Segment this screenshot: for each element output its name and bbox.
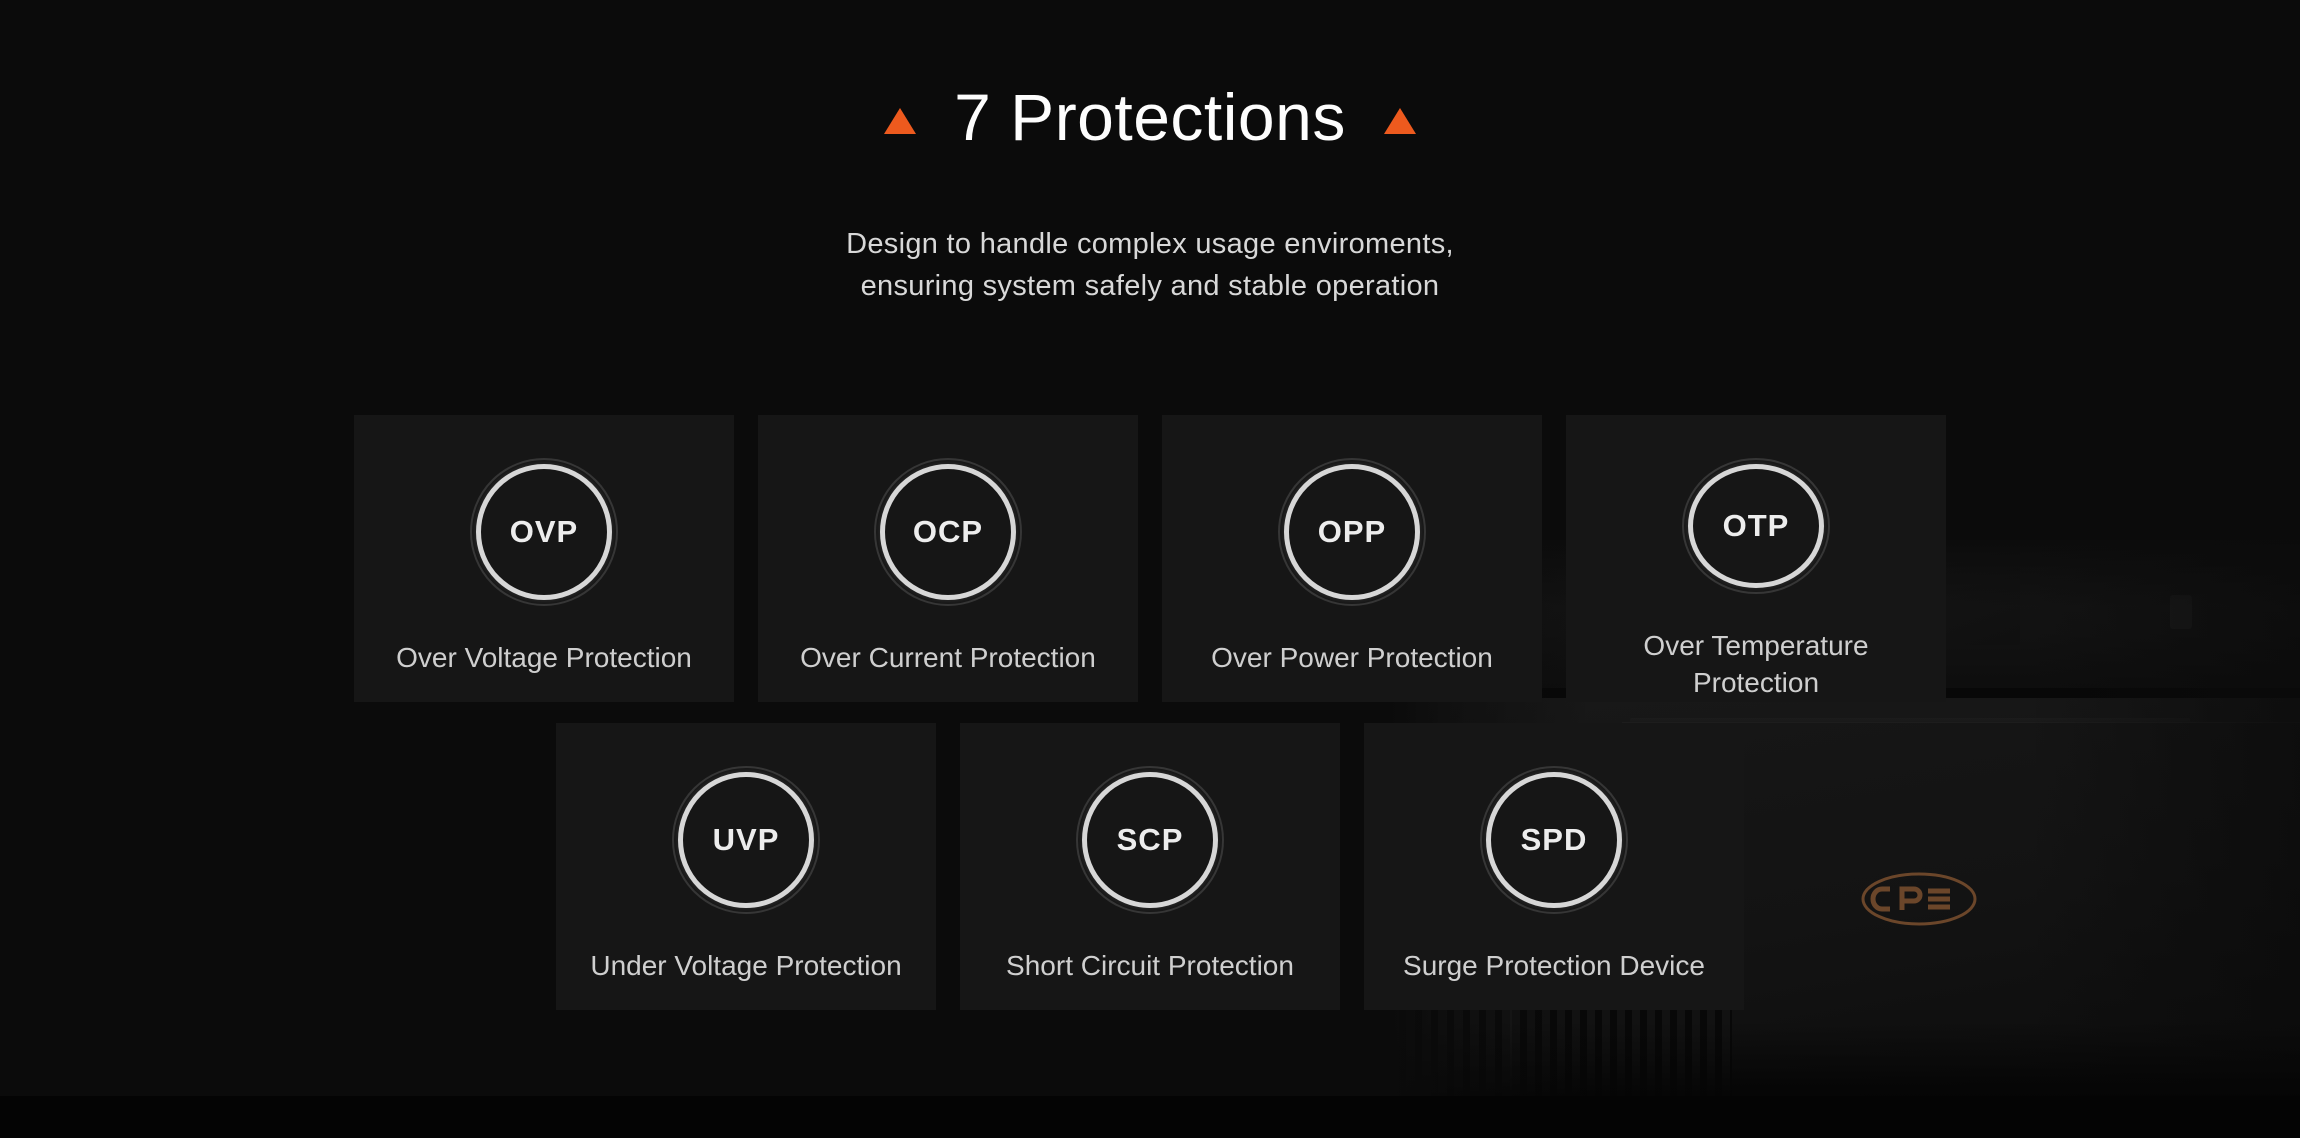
ring-abbr-uvp: UVP [713,822,780,858]
protections-row-2: UVP Under Voltage Protection SCP Short C… [0,723,2300,1010]
protection-card-ocp[interactable]: OCP Over Current Protection [758,415,1138,702]
ring-badge-otp: OTP [1682,458,1830,594]
ring-badge-spd: SPD [1480,766,1628,914]
protection-card-spd[interactable]: SPD Surge Protection Device [1364,723,1744,1010]
ring-badge-scp: SCP [1076,766,1224,914]
ring-abbr-otp: OTP [1723,508,1790,544]
protection-card-uvp[interactable]: UVP Under Voltage Protection [556,723,936,1010]
ring-abbr-ovp: OVP [510,514,578,550]
triangle-marker-right-icon [1384,108,1416,134]
ring-badge-ocp: OCP [874,458,1022,606]
protections-grid: OVP Over Voltage Protection OCP Over Cur… [0,415,2300,1010]
card-label-otp: Over Temperature Protection [1643,628,1868,702]
protection-card-opp[interactable]: OPP Over Power Protection [1162,415,1542,702]
protection-card-otp[interactable]: OTP Over Temperature Protection [1566,415,1946,702]
ring-badge-ovp: OVP [470,458,618,606]
protection-card-ovp[interactable]: OVP Over Voltage Protection [354,415,734,702]
card-label-ocp: Over Current Protection [800,640,1096,677]
ring-abbr-spd: SPD [1521,822,1588,858]
ring-abbr-opp: OPP [1318,514,1386,550]
ring-abbr-ocp: OCP [913,514,983,550]
title-row: 7 Protections [0,0,2300,194]
terminal-pin [1448,1006,1455,1036]
card-label-scp: Short Circuit Protection [1006,948,1294,985]
page-subtitle: Design to handle complex usage enviromen… [0,224,2300,306]
subtitle-line-1: Design to handle complex usage enviromen… [0,224,2300,265]
protections-feature-page: 7 Protections Design to handle complex u… [0,0,2300,1138]
page-title: 7 Protections [954,84,1346,150]
page-header: 7 Protections Design to handle complex u… [0,0,2300,307]
ring-badge-uvp: UVP [672,766,820,914]
protection-card-scp[interactable]: SCP Short Circuit Protection [960,723,1340,1010]
card-label-opp: Over Power Protection [1211,640,1493,677]
ring-badge-opp: OPP [1278,458,1426,606]
card-label-uvp: Under Voltage Protection [590,948,901,985]
terminal-contact-fingers [1390,1022,1516,1100]
ring-abbr-scp: SCP [1117,822,1184,858]
card-label-ovp: Over Voltage Protection [396,640,692,677]
triangle-marker-left-icon [884,108,916,134]
subtitle-line-2: ensuring system safely and stable operat… [0,266,2300,307]
card-label-spd: Surge Protection Device [1403,948,1705,985]
bottom-black-band [0,1096,2300,1138]
protections-row-1: OVP Over Voltage Protection OCP Over Cur… [0,415,2300,702]
